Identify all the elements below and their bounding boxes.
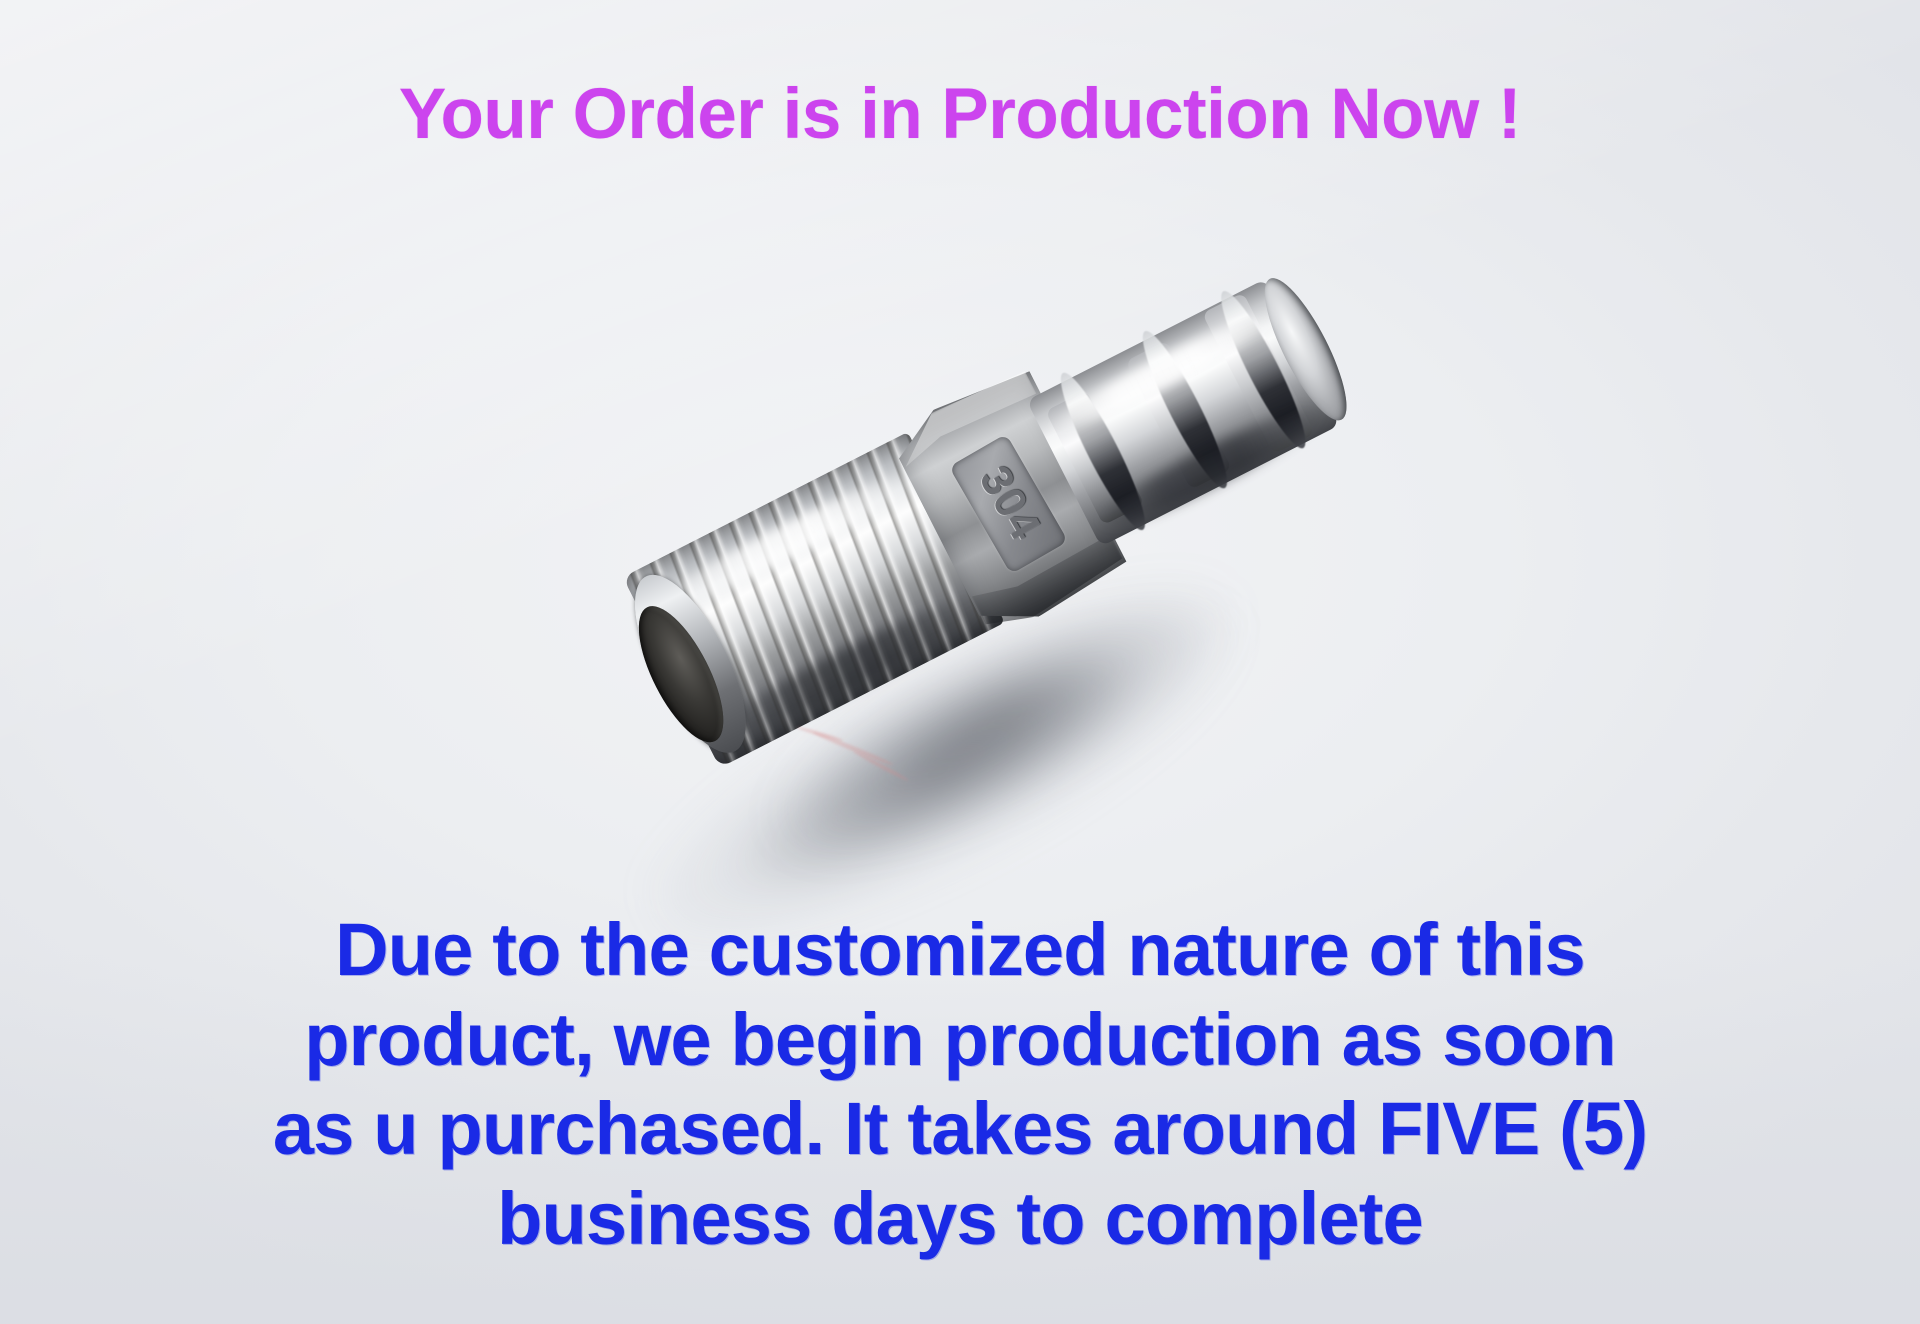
notice-line: Due to the customized nature of this	[0, 905, 1920, 995]
notice-line: product, we begin production as soon	[0, 995, 1920, 1085]
notice-line: business days to complete	[0, 1174, 1920, 1264]
notice-line: as u purchased. It takes around FIVE (5)	[0, 1084, 1920, 1174]
product-photo: 304	[560, 360, 1460, 920]
production-notice-text: Due to the customized nature of this pro…	[0, 905, 1920, 1263]
promo-canvas: Your Order is in Production Now !	[0, 0, 1920, 1324]
headline-text: Your Order is in Production Now !	[0, 78, 1920, 153]
